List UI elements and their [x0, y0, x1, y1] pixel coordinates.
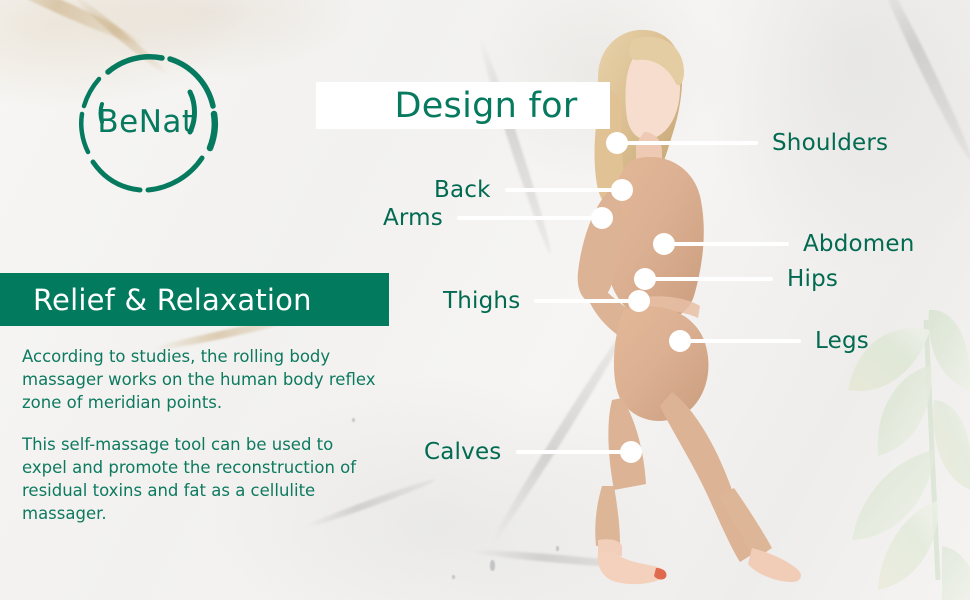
description-text-block: According to studies, the rolling body m…: [22, 345, 382, 525]
callout-line: [650, 277, 773, 281]
design-for-title: Design for: [348, 86, 577, 126]
promo-banner-canvas: BeNat Design for Relief & Relaxation Acc…: [0, 0, 970, 600]
callout-label-shoulders: Shoulders: [772, 130, 888, 156]
callout-line: [669, 242, 789, 246]
callout-arms: Arms: [383, 205, 613, 231]
callout-label-hips: Hips: [787, 266, 838, 292]
relief-relaxation-title: Relief & Relaxation: [0, 283, 312, 317]
description-paragraph-1: According to studies, the rolling body m…: [22, 345, 382, 414]
callout-hips: Hips: [634, 266, 838, 292]
callout-line: [534, 299, 634, 303]
callout-line: [516, 450, 626, 454]
callout-dot: [611, 179, 633, 201]
callout-abdomen: Abdomen: [653, 231, 915, 257]
callout-dot: [620, 441, 642, 463]
callout-line: [505, 188, 617, 192]
callout-dot: [628, 290, 650, 312]
callout-label-abdomen: Abdomen: [803, 231, 915, 257]
design-for-banner: Design for: [316, 82, 610, 129]
marble-speck: [452, 575, 455, 579]
callout-line: [685, 339, 801, 343]
callout-legs: Legs: [669, 328, 869, 354]
callout-line: [622, 141, 758, 145]
marble-speck: [490, 560, 495, 571]
callout-thighs: Thighs: [443, 288, 650, 314]
callout-dot: [591, 207, 613, 229]
callout-label-calves: Calves: [424, 439, 502, 465]
relief-relaxation-banner: Relief & Relaxation: [0, 273, 389, 326]
callout-label-thighs: Thighs: [443, 288, 520, 314]
description-paragraph-2: This self-massage tool can be used to ex…: [22, 433, 382, 525]
callout-label-arms: Arms: [383, 205, 443, 231]
callout-label-back: Back: [434, 177, 491, 203]
callout-shoulders: Shoulders: [606, 130, 888, 156]
callout-back: Back: [434, 177, 633, 203]
brand-logo: BeNat: [66, 42, 226, 202]
logo-wordmark: BeNat: [66, 42, 226, 202]
callout-calves: Calves: [424, 439, 642, 465]
callout-line: [457, 216, 597, 220]
callout-label-legs: Legs: [815, 328, 869, 354]
